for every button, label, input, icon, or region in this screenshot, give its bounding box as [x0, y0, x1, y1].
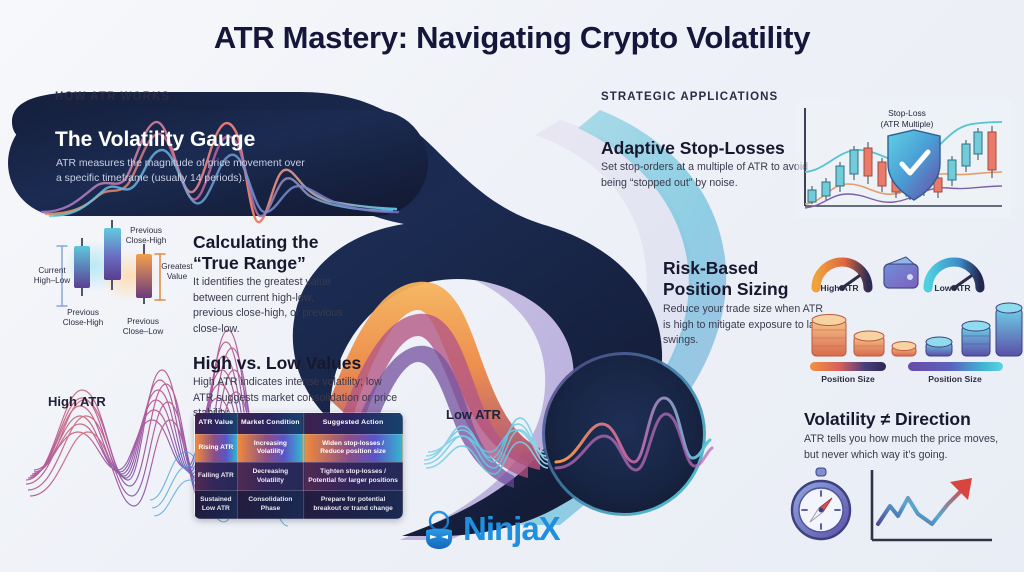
table-cell: Tighten stop-losses /Potential for large… [304, 462, 403, 490]
stop-loss-chart-caption: Stop-Loss (ATR Multiple) [862, 108, 952, 131]
table-header-row: ATR Value Market Condition Suggested Act… [195, 413, 403, 435]
volatility-gauge-heading: The Volatility Gauge [55, 128, 255, 152]
candle-label-current-high-low: CurrentHigh–Low [26, 266, 78, 287]
true-range-heading-line1: Calculating the [193, 232, 318, 252]
low-atr-label: Low ATR [446, 407, 501, 422]
table-cell: ConsolidationPhase [237, 491, 303, 519]
table-header-atr-value: ATR Value [195, 413, 238, 435]
table-cell: Widen stop-losses /Reduce position size [304, 434, 403, 462]
compass-and-trend-icons [792, 462, 1012, 562]
position-sizing-heading: Risk-Based Position Sizing [663, 258, 828, 299]
stop-loss-caption-line2: (ATR Multiple) [881, 119, 934, 129]
position-size-label-right: Position Size [906, 374, 1004, 384]
true-range-heading-line2: “True Range” [193, 253, 306, 273]
candle-label-previous-close-high-top: PreviousClose-High [118, 226, 174, 247]
position-sizing-heading-line1: Risk-Based [663, 258, 758, 278]
volatility-direction-heading: Volatility ≠ Direction [804, 409, 971, 430]
table-header-market-condition: Market Condition [237, 413, 303, 435]
candle-label-previous-close-low: PreviousClose–Low [115, 317, 171, 338]
compass-icon [792, 468, 850, 539]
high-atr-label: High ATR [48, 394, 106, 409]
position-size-label-left: Position Size [808, 374, 888, 384]
table-cell: Falling ATR [195, 462, 238, 490]
ninja-mask-icon [418, 508, 460, 550]
high-low-values-heading: High vs. Low Values [193, 353, 361, 374]
table-row: Rising ATRIncreasingVolatilityWiden stop… [195, 434, 403, 462]
gauge-label-low-atr: Low ATR [925, 283, 980, 293]
volatility-direction-body: ATR tells you how much the price moves, … [804, 432, 1009, 463]
section-label-strategic-applications: STRATEGIC APPLICATIONS [601, 91, 778, 103]
brand-name: NinjaX [463, 510, 560, 548]
true-range-body: It identifies the greatest value between… [193, 275, 353, 338]
table-cell: Rising ATR [195, 434, 238, 462]
position-sizing-heading-line2: Position Sizing [663, 279, 788, 299]
position-size-bar-left [810, 362, 886, 371]
volatility-gauge-body: ATR measures the magnitude of price move… [56, 156, 306, 186]
adaptive-stop-losses-body: Set stop-orders at a multiple of ATR to … [601, 160, 816, 191]
table-cell: SustainedLow ATR [195, 491, 238, 519]
page-title: ATR Mastery: Navigating Crypto Volatilit… [0, 20, 1024, 56]
trend-arrow-chart-icon [872, 470, 992, 540]
gauge-label-high-atr: High ATR [812, 283, 867, 293]
table-cell: IncreasingVolatility [237, 434, 303, 462]
true-range-heading: Calculating the “True Range” [193, 232, 343, 273]
stop-loss-caption-line1: Stop-Loss [888, 108, 926, 118]
ninjax-logo: NinjaX [418, 508, 560, 550]
table-row: SustainedLow ATRConsolidationPhasePrepar… [195, 491, 403, 519]
atr-guidance-table: ATR Value Market Condition Suggested Act… [194, 412, 403, 519]
table-cell: DecreasingVolatility [237, 462, 303, 490]
infographic-canvas: ATR Mastery: Navigating Crypto Volatilit… [0, 0, 1024, 572]
position-size-bar-right [908, 362, 1003, 371]
candle-label-previous-close-high-bottom: PreviousClose-High [54, 308, 112, 329]
wallet-icon [884, 257, 918, 288]
adaptive-stop-losses-heading: Adaptive Stop-Losses [601, 138, 785, 159]
section-label-how-atr-works: HOW ATR WORKS [55, 91, 170, 103]
position-size-coin-stacks [808, 300, 1013, 362]
table-cell: Prepare for potentialbreakout or trand c… [304, 491, 403, 519]
table-row: Falling ATRDecreasingVolatilityTighten s… [195, 462, 403, 490]
table-header-suggested-action: Suggested Action [304, 413, 403, 435]
